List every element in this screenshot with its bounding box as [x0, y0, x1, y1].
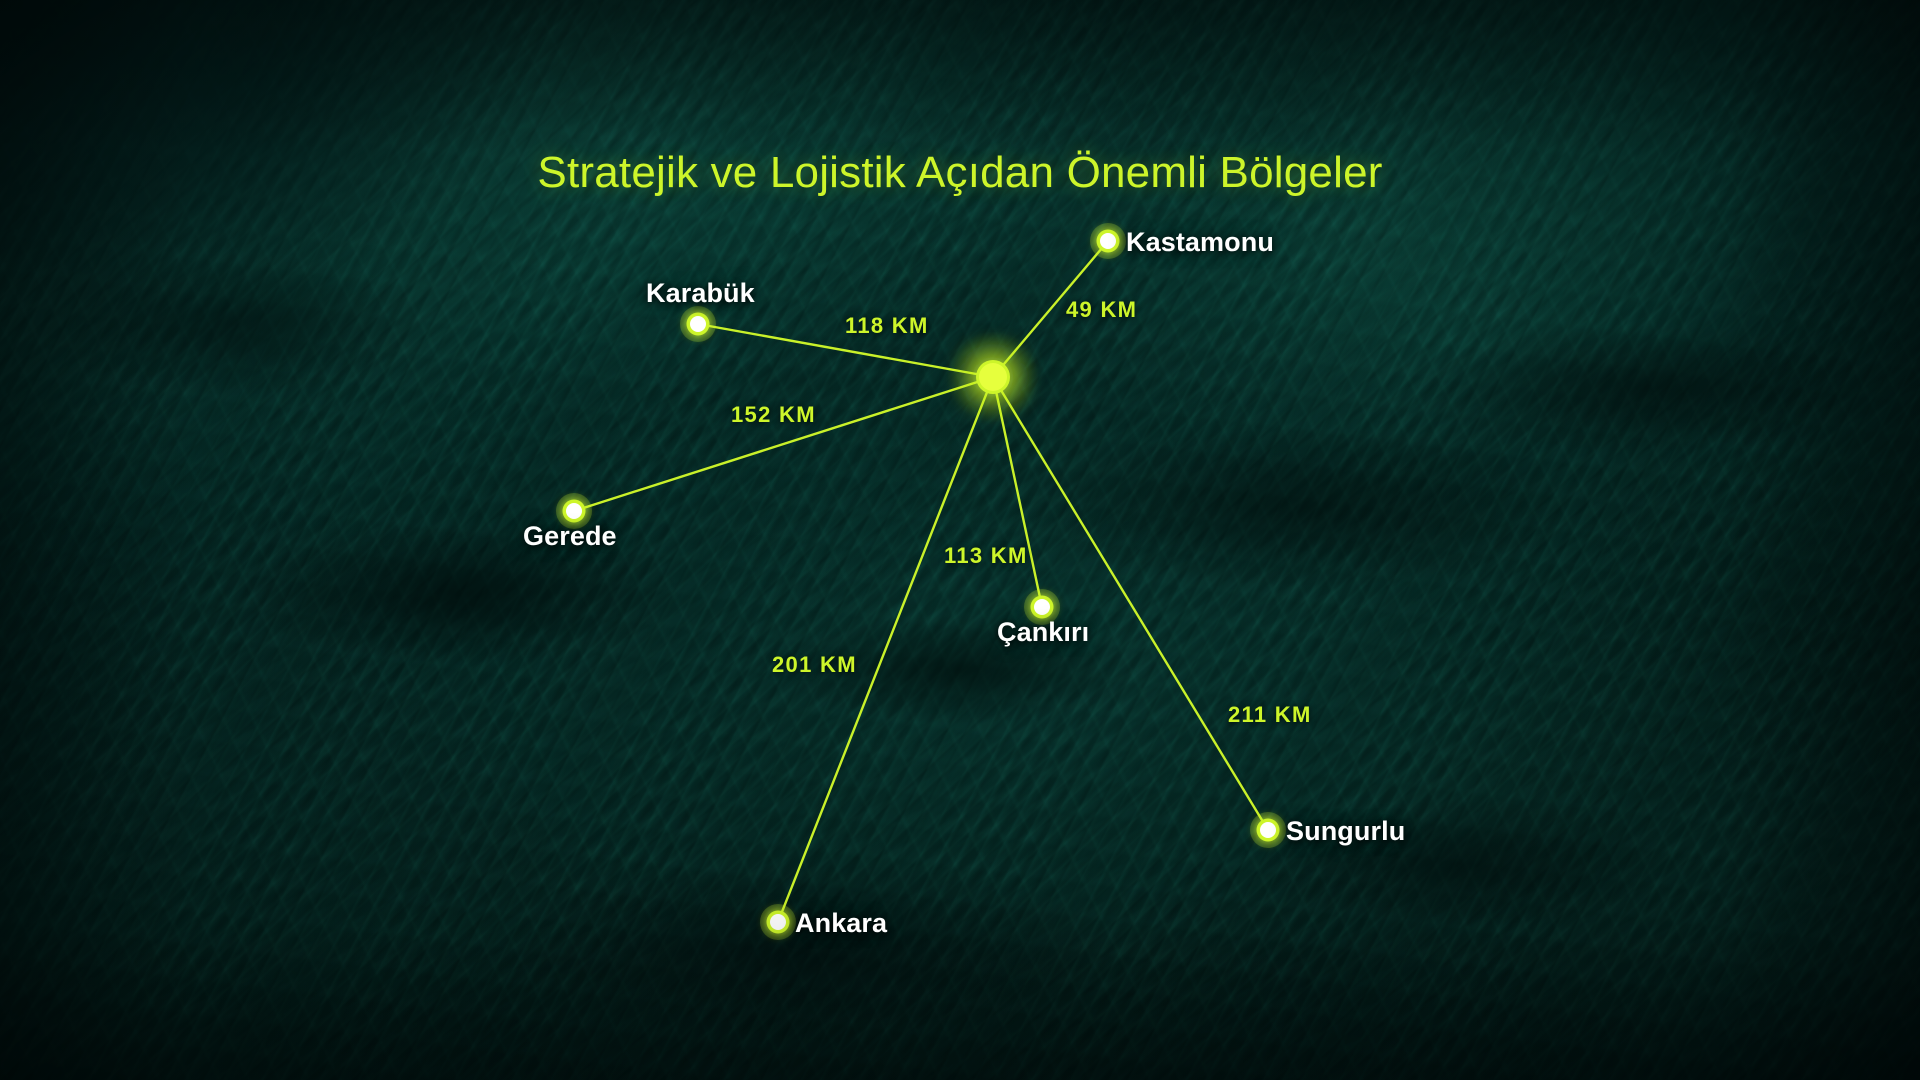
distance-label-sungurlu: 211 KM	[1228, 702, 1312, 728]
city-label-cankiri: Çankırı	[997, 617, 1089, 648]
city-label-karabuk: Karabük	[646, 278, 755, 309]
city-label-sungurlu: Sungurlu	[1286, 816, 1405, 847]
distance-label-kastamonu: 49 KM	[1066, 297, 1137, 323]
city-label-ankara: Ankara	[795, 908, 887, 939]
map-screenshot: Stratejik ve Lojistik Açıdan Önemli Bölg…	[0, 0, 1920, 1080]
distance-label-ankara: 201 KM	[772, 652, 857, 678]
city-label-kastamonu: Kastamonu	[1126, 227, 1274, 258]
city-label-gerede: Gerede	[523, 521, 617, 552]
distance-label-karabuk: 118 KM	[845, 313, 929, 339]
distance-label-gerede: 152 KM	[731, 402, 816, 428]
page-title: Stratejik ve Lojistik Açıdan Önemli Bölg…	[0, 148, 1920, 198]
distance-label-cankiri: 113 KM	[944, 543, 1028, 569]
